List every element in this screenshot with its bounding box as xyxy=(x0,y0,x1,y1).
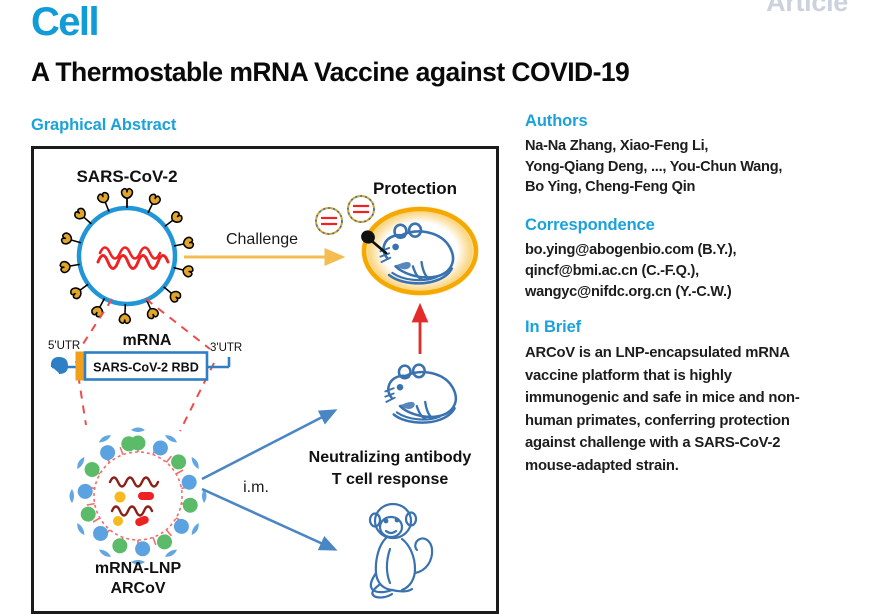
page-title: A Thermostable mRNA Vaccine against COVI… xyxy=(31,57,841,87)
lnp-label-line1: mRNA-LNP xyxy=(95,560,182,577)
article-metadata-column: Authors Na-Na Zhang, Xiao-Feng Li, Yong-… xyxy=(525,112,855,477)
monkey-icon xyxy=(370,504,432,597)
immunized-mouse-icon xyxy=(385,365,455,423)
response-label-line1: Neutralizing antibody xyxy=(309,449,472,466)
cell-journal-logo: Cell xyxy=(31,2,98,42)
challenge-virion-icons xyxy=(316,196,374,234)
spacer xyxy=(525,198,855,216)
in-brief-line: mouse-adapted strain. xyxy=(525,455,855,477)
spacer xyxy=(525,302,855,318)
mrna-label: mRNA xyxy=(123,332,172,349)
correspondence-email[interactable]: bo.ying@abogenbio.com (B.Y.), xyxy=(525,240,855,261)
protected-mouse-icon xyxy=(360,205,480,297)
in-brief-heading: In Brief xyxy=(525,318,855,337)
utr5-label: 5'UTR xyxy=(48,340,80,352)
challenge-label: Challenge xyxy=(226,231,298,248)
correspondence-heading: Correspondence xyxy=(525,216,855,235)
graphical-abstract-figure: SARS-CoV-2 mRNA 5'UTR 3'UTR SARS-CoV-2 R… xyxy=(31,146,499,614)
protection-label: Protection xyxy=(373,179,457,198)
authors-section: Authors Na-Na Zhang, Xiao-Feng Li, Yong-… xyxy=(525,112,855,198)
response-label-line2: T cell response xyxy=(332,471,449,488)
authors-line: Bo Ying, Cheng-Feng Qin xyxy=(525,177,855,198)
in-brief-line: human primates, conferring protection xyxy=(525,410,855,432)
authors-line: Na-Na Zhang, Xiao-Feng Li, xyxy=(525,136,855,157)
in-brief-section: In Brief ARCoV is an LNP-encapsulated mR… xyxy=(525,318,855,477)
correspondence-email[interactable]: wangyc@nifdc.org.cn (Y.-C.W.) xyxy=(525,282,855,303)
in-brief-line: against challenge with a SARS-CoV-2 xyxy=(525,432,855,454)
virus-label: SARS-CoV-2 xyxy=(76,167,177,186)
authors-heading: Authors xyxy=(525,112,855,131)
graphical-abstract-heading: Graphical Abstract xyxy=(31,116,176,135)
mrna-lnp-particle-icon xyxy=(70,428,207,565)
im-arrow-monkey xyxy=(202,489,334,549)
utr3-label: 3'UTR xyxy=(210,342,242,354)
in-brief-line: immunogenic and safe in mice and non- xyxy=(525,387,855,409)
authors-line: Yong-Qiang Deng, ..., You-Chun Wang, xyxy=(525,157,855,178)
in-brief-line: vaccine platform that is highly xyxy=(525,365,855,387)
article-type-kicker: Article xyxy=(766,0,848,18)
route-label: i.m. xyxy=(243,479,269,496)
correspondence-email[interactable]: qincf@bmi.ac.cn (C.-F.Q.), xyxy=(525,261,855,282)
sars-cov-2-virion-icon xyxy=(60,189,194,324)
lnp-label-line2: ARCoV xyxy=(110,580,165,597)
construct-box-label: SARS-CoV-2 RBD xyxy=(93,361,199,375)
im-arrow-mouse xyxy=(202,411,334,479)
in-brief-line: ARCoV is an LNP-encapsulated mRNA xyxy=(525,342,855,364)
correspondence-section: Correspondence bo.ying@abogenbio.com (B.… xyxy=(525,216,855,302)
